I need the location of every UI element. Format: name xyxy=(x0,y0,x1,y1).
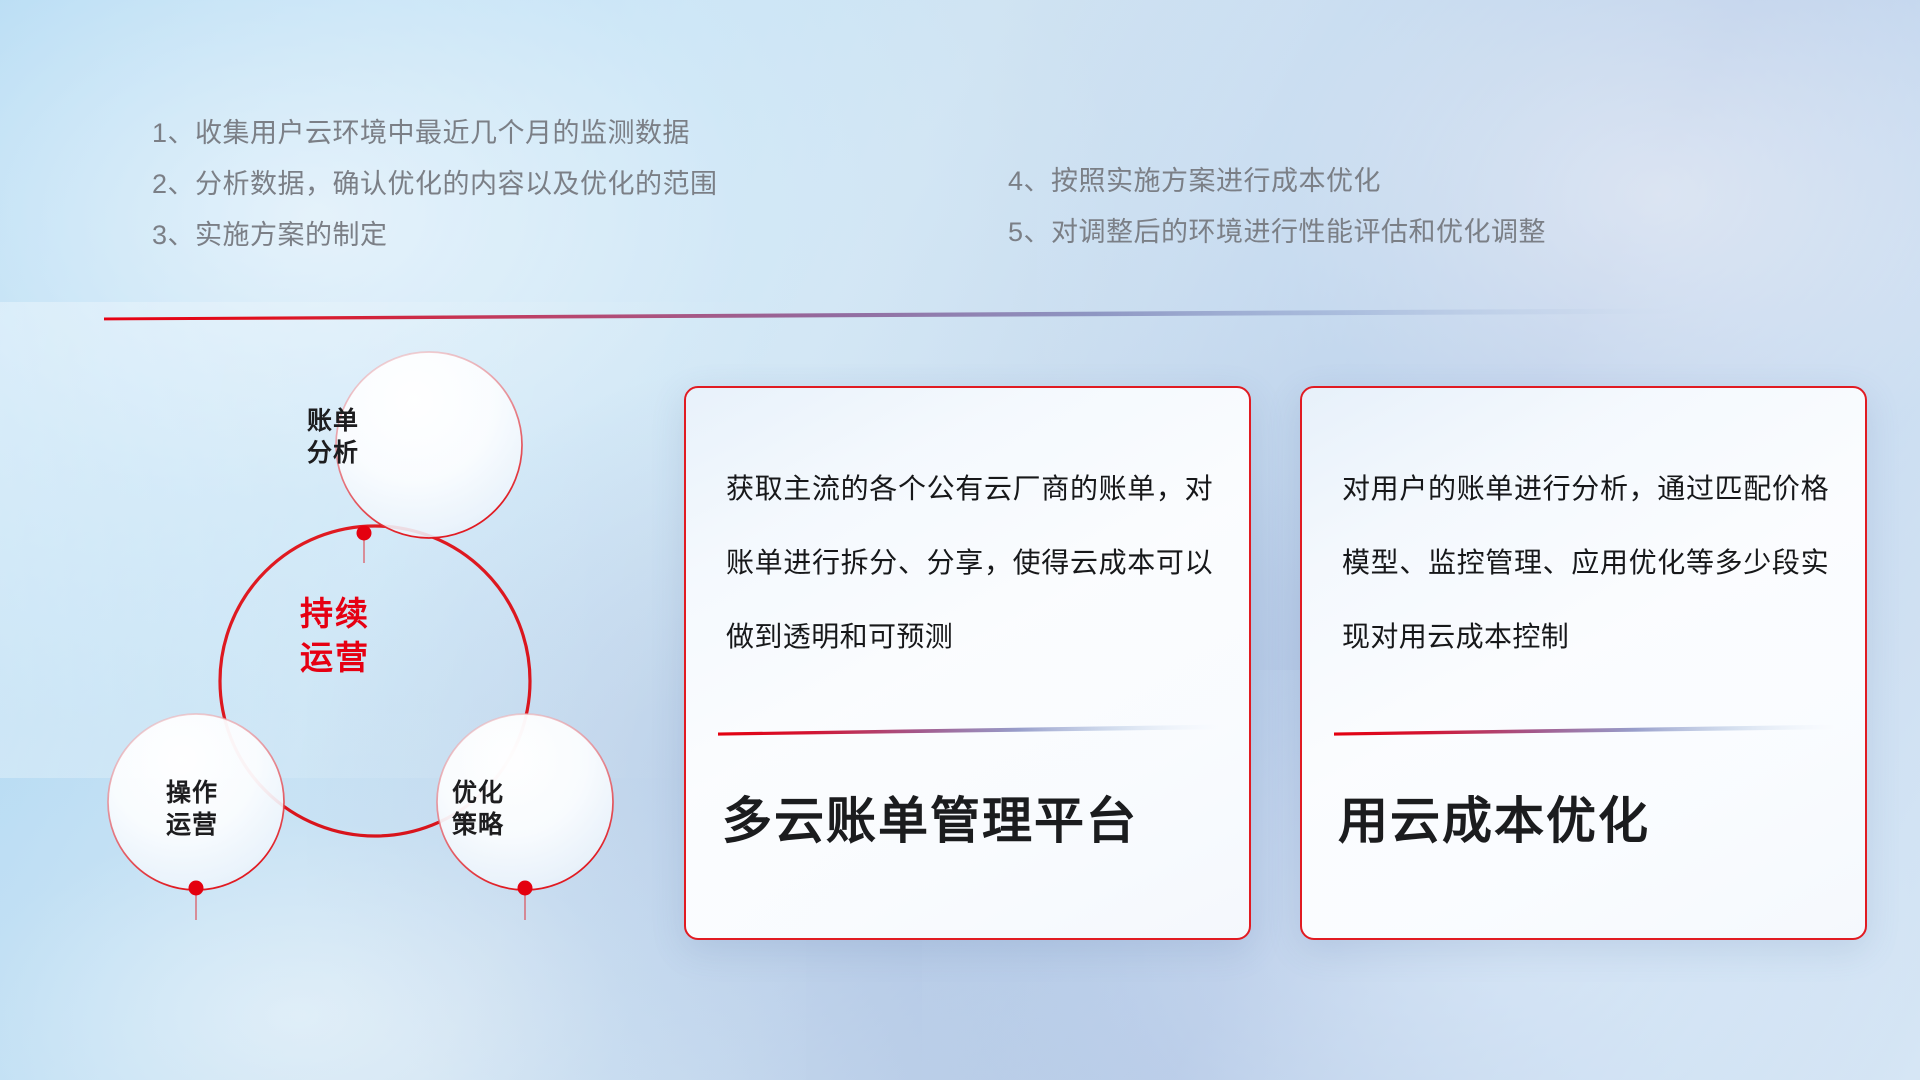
step-item-4: 4、按照实施方案进行成本优化 xyxy=(1008,156,1546,207)
node-dot-left xyxy=(189,881,204,896)
node-dot-right xyxy=(518,881,533,896)
step-item-3: 3、实施方案的制定 xyxy=(152,210,718,261)
steps-list-right: 4、按照实施方案进行成本优化 5、对调整后的环境进行性能评估和优化调整 xyxy=(1008,156,1546,258)
card-divider xyxy=(718,723,1219,736)
card-body-text: 获取主流的各个公有云厂商的账单，对账单进行拆分、分享，使得云成本可以做到透明和可… xyxy=(726,452,1213,674)
feature-card-cloud-cost-optimization[interactable]: 对用户的账单进行分析，通过匹配价格模型、监控管理、应用优化等多少段实现对用云成本… xyxy=(1300,386,1867,940)
diagram-node-label-operations: 操作 运营 xyxy=(112,777,272,841)
diagram-node-label-billing-analysis: 账单 分析 xyxy=(253,405,413,469)
card-title: 用云成本优化 xyxy=(1338,788,1835,854)
step-item-2: 2、分析数据，确认优化的内容以及优化的范围 xyxy=(152,159,718,210)
diagram-center-label: 持续 运营 xyxy=(255,592,415,680)
step-item-5: 5、对调整后的环境进行性能评估和优化调整 xyxy=(1008,207,1546,258)
steps-list-left: 1、收集用户云环境中最近几个月的监测数据 2、分析数据，确认优化的内容以及优化的… xyxy=(152,108,718,261)
card-divider xyxy=(1334,723,1835,736)
step-item-1: 1、收集用户云环境中最近几个月的监测数据 xyxy=(152,108,718,159)
node-dot-top xyxy=(357,526,372,541)
feature-card-multi-cloud-billing-platform[interactable]: 获取主流的各个公有云厂商的账单，对账单进行拆分、分享，使得云成本可以做到透明和可… xyxy=(684,386,1251,940)
diagram-node-label-optimization-policy: 优化 策略 xyxy=(398,777,558,841)
section-divider xyxy=(104,305,1694,321)
card-title: 多云账单管理平台 xyxy=(722,788,1219,854)
card-body-text: 对用户的账单进行分析，通过匹配价格模型、监控管理、应用优化等多少段实现对用云成本… xyxy=(1342,452,1829,674)
